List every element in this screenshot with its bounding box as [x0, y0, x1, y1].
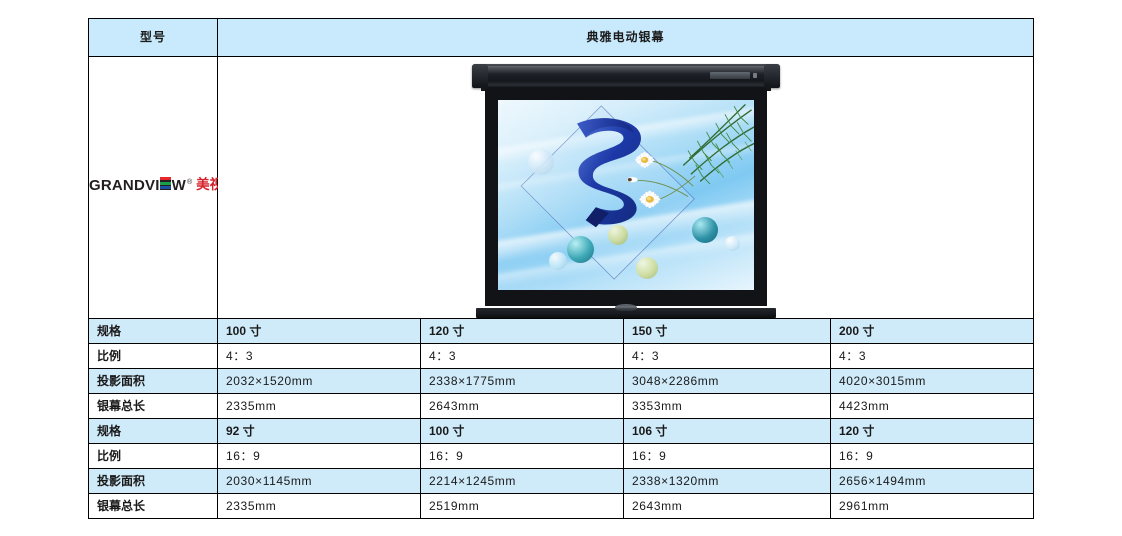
decorative-sphere — [725, 236, 740, 251]
row-value: 2643mm — [624, 494, 831, 519]
table-row: 规格 92 寸 100 寸 106 寸 120 寸 — [89, 419, 1034, 444]
table-header-row: 型号 典雅电动银幕 — [89, 19, 1034, 57]
row-value: 2338×1775mm — [421, 369, 624, 394]
decorative-sphere — [692, 217, 718, 243]
row-value: 100 寸 — [421, 419, 624, 444]
specification-table: 型号 典雅电动银幕 GRANDVIW®美视® — [88, 18, 1034, 519]
casing-end-cap-left — [472, 64, 488, 88]
screen-bottom-weight-bar — [476, 308, 776, 318]
row-value: 2335mm — [218, 394, 421, 419]
decorative-sphere — [528, 149, 554, 175]
brand-logo-cell: GRANDVIW®美视® — [89, 57, 218, 319]
table-row: 比例 4：3 4：3 4：3 4：3 — [89, 344, 1034, 369]
row-value: 3048×2286mm — [624, 369, 831, 394]
casing-end-cap-right — [764, 64, 780, 88]
row-label: 比例 — [89, 344, 218, 369]
screen-black-border — [485, 88, 767, 306]
row-value: 2335mm — [218, 494, 421, 519]
table-row: 投影面积 2030×1145mm 2214×1245mm 2338×1320mm… — [89, 469, 1034, 494]
table-image-row: GRANDVIW®美视® — [89, 57, 1034, 319]
page-root: 型号 典雅电动银幕 GRANDVIW®美视® — [0, 0, 1122, 536]
row-value: 2338×1320mm — [624, 469, 831, 494]
table-row: 规格 100 寸 120 寸 150 寸 200 寸 — [89, 319, 1034, 344]
row-label: 银幕总长 — [89, 494, 218, 519]
row-value: 4020×3015mm — [831, 369, 1034, 394]
row-label: 投影面积 — [89, 369, 218, 394]
row-value: 4：3 — [624, 344, 831, 369]
row-label: 规格 — [89, 419, 218, 444]
row-value: 3353mm — [624, 394, 831, 419]
screen-body — [485, 88, 767, 306]
row-value: 16：9 — [218, 444, 421, 469]
row-value: 120 寸 — [421, 319, 624, 344]
header-product-title: 典雅电动银幕 — [218, 19, 1034, 57]
projector-screen-illustration — [467, 64, 785, 312]
row-label: 比例 — [89, 444, 218, 469]
logo-text-grandvi: GRANDVI — [89, 177, 160, 194]
grandview-logo: GRANDVIW®美视® — [89, 177, 228, 195]
row-value: 2519mm — [421, 494, 624, 519]
row-value: 120 寸 — [831, 419, 1034, 444]
header-model-label: 型号 — [89, 19, 218, 57]
row-value: 2961mm — [831, 494, 1034, 519]
row-value: 100 寸 — [218, 319, 421, 344]
row-label: 银幕总长 — [89, 394, 218, 419]
row-value: 2032×1520mm — [218, 369, 421, 394]
row-value: 2656×1494mm — [831, 469, 1034, 494]
logo-trademark: ® — [187, 179, 192, 186]
row-value: 16：9 — [831, 444, 1034, 469]
row-value: 2214×1245mm — [421, 469, 624, 494]
row-value: 4：3 — [421, 344, 624, 369]
daisy-1 — [635, 151, 654, 167]
row-value: 2643mm — [421, 394, 624, 419]
table-row: 银幕总长 2335mm 2519mm 2643mm 2961mm — [89, 494, 1034, 519]
row-value: 106 寸 — [624, 419, 831, 444]
casing-brand-badge-icon — [710, 72, 750, 79]
row-value: 92 寸 — [218, 419, 421, 444]
row-value: 16：9 — [421, 444, 624, 469]
daisy-2 — [640, 190, 661, 208]
bottom-bar-emblem-icon — [615, 304, 637, 311]
decorative-sphere — [636, 257, 658, 279]
table-row: 银幕总长 2335mm 2643mm 3353mm 4423mm — [89, 394, 1034, 419]
decorative-sphere — [567, 236, 594, 263]
row-value: 2030×1145mm — [218, 469, 421, 494]
projected-image — [498, 100, 754, 290]
screen-top-casing — [472, 64, 780, 88]
daisy-flowers-icon — [615, 138, 702, 233]
row-label: 投影面积 — [89, 469, 218, 494]
row-value: 4：3 — [218, 344, 421, 369]
table-row: 比例 16：9 16：9 16：9 16：9 — [89, 444, 1034, 469]
row-value: 16：9 — [624, 444, 831, 469]
table-row: 投影面积 2032×1520mm 2338×1775mm 3048×2286mm… — [89, 369, 1034, 394]
row-value: 200 寸 — [831, 319, 1034, 344]
logo-rgb-e-icon — [160, 177, 171, 190]
logo-text-w: W — [172, 177, 186, 194]
row-value: 4423mm — [831, 394, 1034, 419]
row-value: 150 寸 — [624, 319, 831, 344]
row-value: 4：3 — [831, 344, 1034, 369]
product-photo-cell — [218, 57, 1034, 319]
row-label: 规格 — [89, 319, 218, 344]
daisy-bud — [627, 177, 637, 182]
